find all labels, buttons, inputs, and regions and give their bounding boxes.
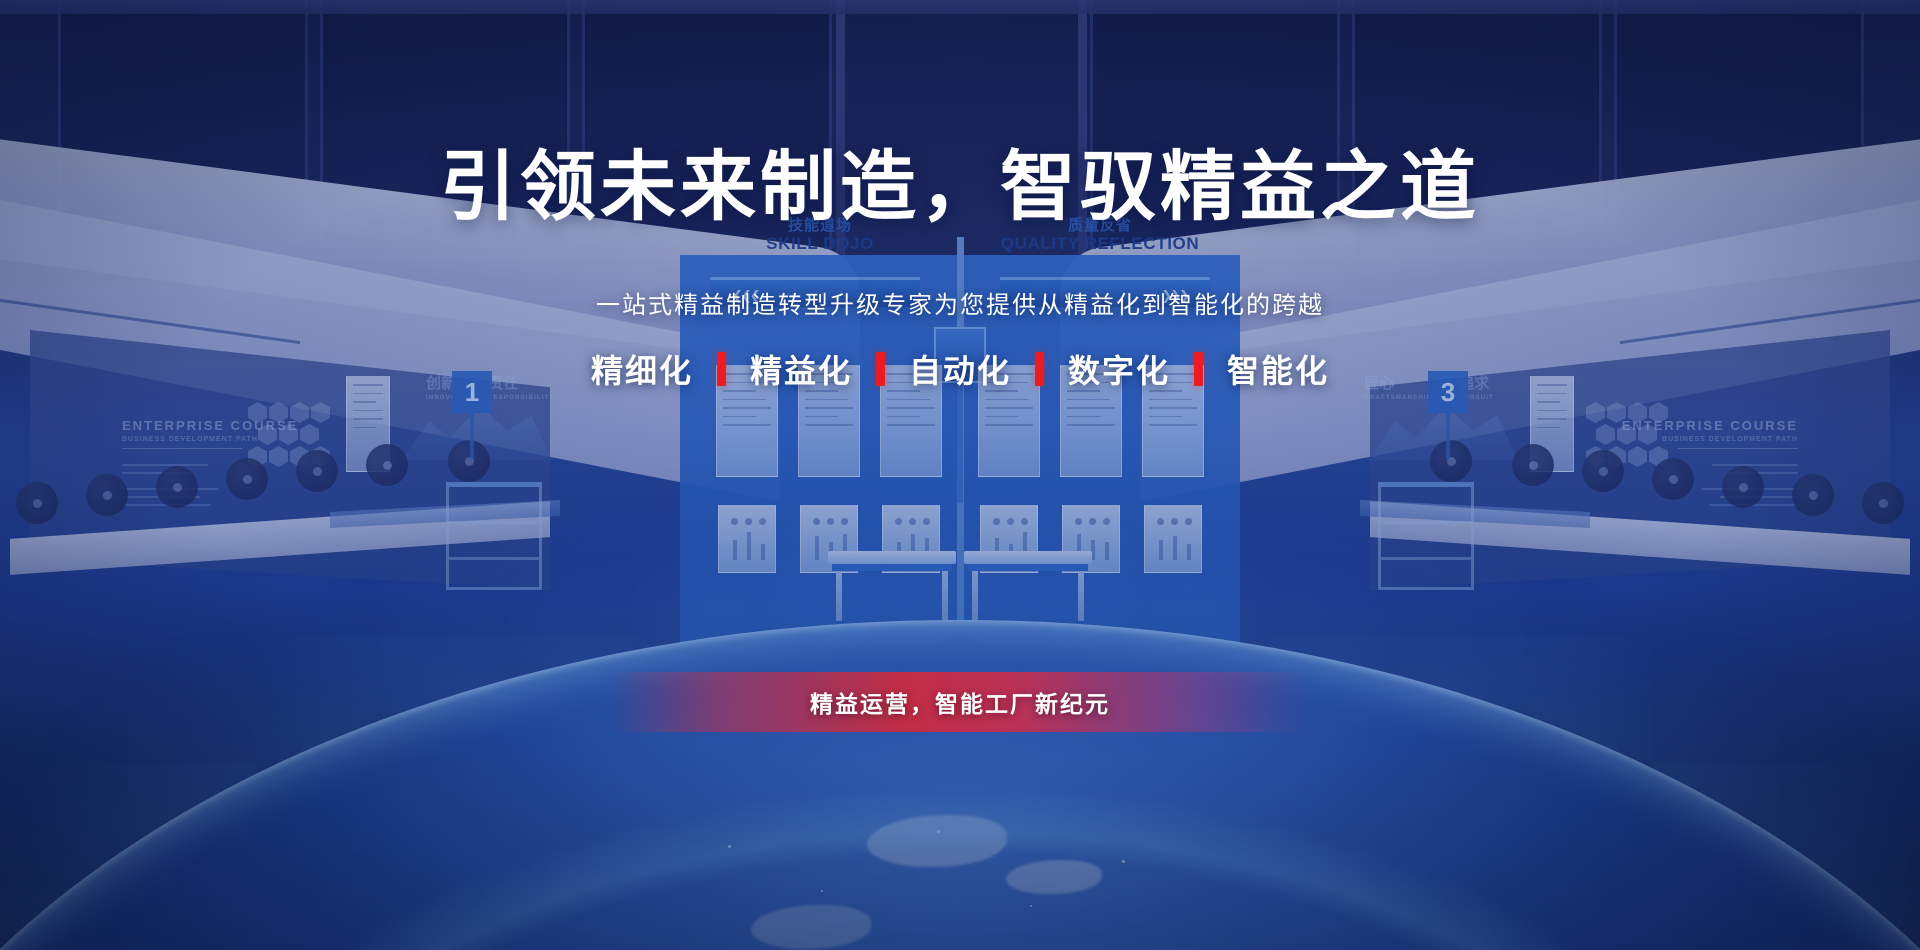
hero-subheadline: 一站式精益制造转型升级专家为您提供从精益化到智能化的跨越 <box>0 285 1920 320</box>
keyword-separator-0 <box>717 352 726 386</box>
keyword-separator-2 <box>1035 352 1044 386</box>
hero-banner: ENTERPRISE COURSE BUSINESS DEVELOPMENT P… <box>0 0 1920 950</box>
workbench-left <box>828 551 956 621</box>
tagline-text: 精益运营，智能工厂新纪元 <box>810 685 1110 719</box>
rack-left <box>446 482 542 590</box>
keyword-item-3: 数字化 <box>1068 346 1170 392</box>
rack-right <box>1378 482 1474 590</box>
hero-copy: 引领未来制造，智驭精益之道 一站式精益制造转型升级专家为您提供从精益化到智能化的… <box>0 0 1920 392</box>
tagline-ribbon: 精益运营，智能工厂新纪元 <box>610 672 1310 732</box>
keyword-separator-1 <box>876 352 885 386</box>
booth-kiosk-post <box>957 383 963 503</box>
page-title: 引领未来制造，智驭精益之道 <box>0 0 1920 229</box>
keyword-item-0: 精细化 <box>591 346 693 392</box>
keyword-item-2: 自动化 <box>909 346 1011 392</box>
keyword-item-4: 智能化 <box>1227 346 1329 392</box>
keyword-separator-3 <box>1194 352 1203 386</box>
workbench-right <box>964 551 1092 621</box>
keyword-list: 精细化 精益化 自动化 数字化 智能化 <box>0 346 1920 392</box>
keyword-item-1: 精益化 <box>750 346 852 392</box>
